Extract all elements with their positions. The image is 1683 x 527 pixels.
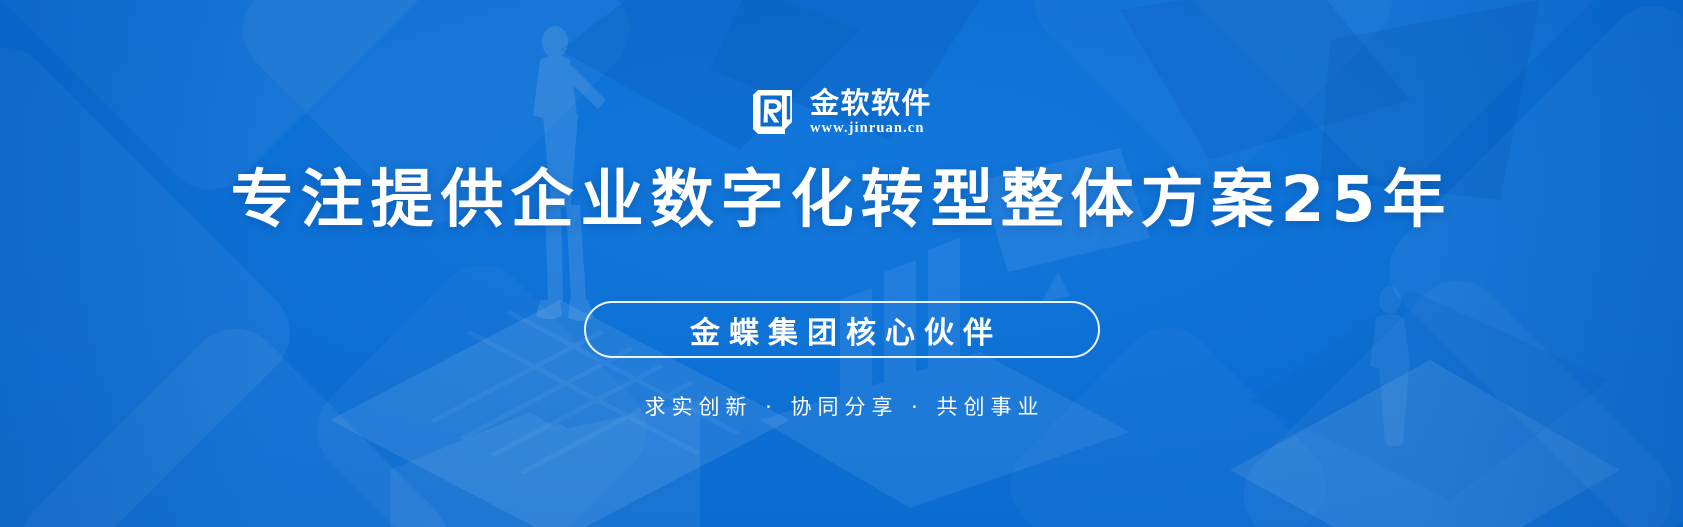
partner-badge-pill[interactable]: 金蝶集团核心伙伴 <box>584 301 1100 358</box>
partner-badge-label: 金蝶集团核心伙伴 <box>681 308 1002 352</box>
logo-lockup[interactable]: 金软软件 www.jinruan.cn <box>751 86 932 138</box>
logo-text-block: 金软软件 www.jinruan.cn <box>810 88 932 136</box>
company-name: 金软软件 <box>810 88 932 118</box>
r-monogram-logo-icon <box>751 88 799 136</box>
banner-content: 金软软件 www.jinruan.cn 专注提供企业数字化转型整体方案25年 金… <box>0 0 1683 527</box>
tagline-text: 求实创新 · 协同分享 · 共创事业 <box>638 391 1044 421</box>
headline-text: 专注提供企业数字化转型整体方案25年 <box>231 168 1453 231</box>
company-website: www.jinruan.cn <box>810 120 932 136</box>
promotional-banner: 金软软件 www.jinruan.cn 专注提供企业数字化转型整体方案25年 金… <box>0 0 1683 527</box>
